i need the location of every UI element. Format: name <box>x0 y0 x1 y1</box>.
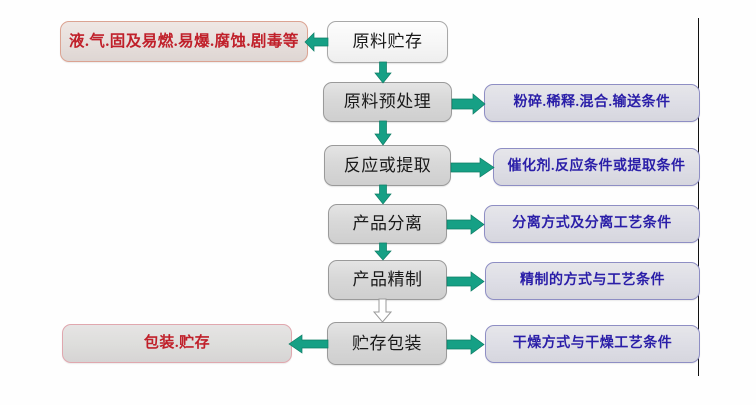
condition-drying-label: 干燥方式与干燥工艺条件 <box>513 336 673 352</box>
note-packaging-storage-label: 包装.贮存 <box>144 335 210 352</box>
step-product-separation-label: 产品分离 <box>353 214 423 234</box>
condition-refining-label: 精制的方式与工艺条件 <box>520 273 665 289</box>
note-hazard-materials-label: 液.气.固及易燃.易爆.腐蚀.剧毒等 <box>69 33 299 51</box>
connector-pretreatment-to-condition <box>452 94 486 114</box>
connector-storage-to-hazard-note <box>305 33 329 51</box>
connector-packaging-to-condition <box>447 335 485 354</box>
connector-storage-to-pretreatment <box>372 62 394 84</box>
condition-separation: 分离方式及分离工艺条件 <box>484 205 700 243</box>
step-product-separation: 产品分离 <box>328 204 447 244</box>
condition-pretreatment: 粉碎.稀释.混合.输送条件 <box>484 84 700 122</box>
condition-drying: 干燥方式与干燥工艺条件 <box>485 325 700 363</box>
step-reaction-or-extraction-label: 反应或提取 <box>344 156 432 176</box>
condition-pretreatment-label: 粉碎.稀释.混合.输送条件 <box>514 95 671 111</box>
step-storage-packaging: 贮存包装 <box>327 322 447 365</box>
step-raw-material-storage: 原料贮存 <box>327 21 448 63</box>
step-raw-material-pretreatment-label: 原料预处理 <box>344 92 432 112</box>
step-product-refining-label: 产品精制 <box>353 270 423 290</box>
note-packaging-storage: 包装.贮存 <box>62 324 292 363</box>
connector-separation-to-condition <box>447 215 485 234</box>
step-storage-packaging-label: 贮存包装 <box>352 334 422 354</box>
step-product-refining: 产品精制 <box>328 260 447 300</box>
connector-refining-to-packaging <box>371 299 395 323</box>
step-raw-material-storage-label: 原料贮存 <box>353 32 423 52</box>
step-raw-material-pretreatment: 原料预处理 <box>323 82 452 122</box>
condition-refining: 精制的方式与工艺条件 <box>485 262 700 300</box>
condition-separation-label: 分离方式及分离工艺条件 <box>512 216 672 232</box>
connector-separation-to-refining <box>372 243 394 261</box>
connector-pretreatment-to-reaction <box>372 121 394 146</box>
note-hazard-materials: 液.气.固及易燃.易爆.腐蚀.剧毒等 <box>60 21 308 62</box>
page-edge-rule <box>698 18 699 376</box>
connector-refining-to-condition <box>447 272 485 291</box>
connector-reaction-to-separation <box>372 185 394 205</box>
connector-reaction-to-condition <box>451 158 495 177</box>
connector-packaging-to-note <box>289 335 329 353</box>
condition-reaction-label: 催化剂.反应条件或提取条件 <box>508 159 686 175</box>
step-reaction-or-extraction: 反应或提取 <box>324 145 451 186</box>
condition-reaction: 催化剂.反应条件或提取条件 <box>493 148 700 186</box>
flowchart-canvas: 液.气.固及易燃.易爆.腐蚀.剧毒等 包装.贮存 原料贮存 原料预处理 反应或提… <box>0 0 756 405</box>
